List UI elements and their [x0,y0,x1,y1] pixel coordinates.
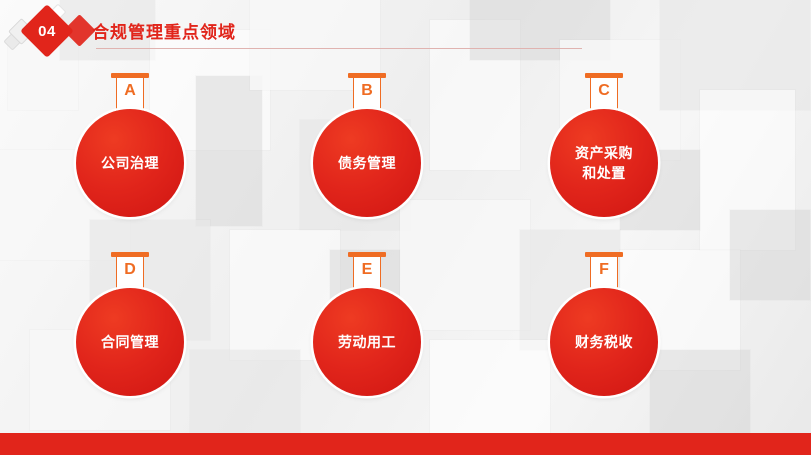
item-bulb[interactable]: 债务管理 [313,109,421,217]
section-number: 04 [28,12,66,50]
section-badge: 04 [6,5,101,57]
background-square [730,210,810,300]
item-letter: A [116,80,144,102]
item-label: 资产采购 和处置 [575,143,633,183]
item-label: 公司治理 [101,153,159,173]
item-bulb[interactable]: 资产采购 和处置 [550,109,658,217]
item-bulb[interactable]: 劳动用工 [313,288,421,396]
item-letter: B [353,80,381,102]
item-label: 债务管理 [338,153,396,173]
item-bulb[interactable]: 公司治理 [76,109,184,217]
background-square [196,76,262,226]
page-title: 合规管理重点领域 [92,18,236,43]
item-bulb[interactable]: 合同管理 [76,288,184,396]
background-square [190,350,300,435]
item-letter: D [116,259,144,281]
slide-header: 04 合规管理重点领域 [0,0,811,62]
item-card-d[interactable]: D 合同管理 [60,252,200,412]
item-label: 劳动用工 [338,332,396,352]
title-divider [96,48,582,49]
item-letter: F [590,259,618,281]
footer-bar [0,433,811,455]
slide-canvas: 04 合规管理重点领域 A 公司治理 B 债务管理 C 资产采购 和处置 D [0,0,811,455]
item-card-f[interactable]: F 财务税收 [534,252,674,412]
item-card-c[interactable]: C 资产采购 和处置 [534,73,674,233]
item-label: 合同管理 [101,332,159,352]
item-letter: E [353,259,381,281]
item-label: 财务税收 [575,332,633,352]
background-square [430,340,550,435]
diamond-decor-red [63,14,96,47]
item-bulb[interactable]: 财务税收 [550,288,658,396]
item-letter: C [590,80,618,102]
item-card-e[interactable]: E 劳动用工 [297,252,437,412]
item-card-b[interactable]: B 债务管理 [297,73,437,233]
item-card-a[interactable]: A 公司治理 [60,73,200,233]
